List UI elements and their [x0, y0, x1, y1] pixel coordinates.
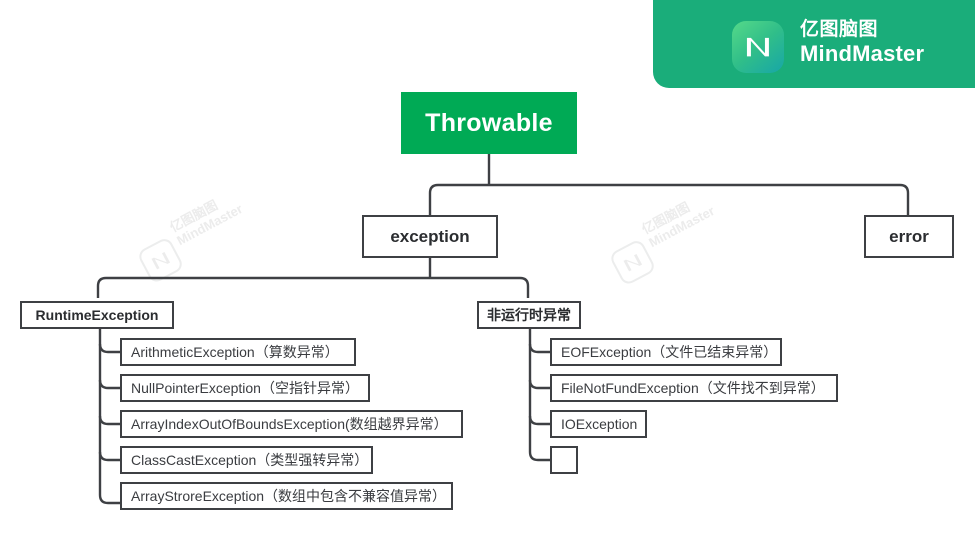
- node-array-index-out-of-bounds-exception[interactable]: ArrayIndexOutOfBoundsException(数组越界异常）: [120, 410, 463, 438]
- watermark-logo-icon: [608, 238, 657, 287]
- node-class-cast-exception-label: ClassCastException（类型强转异常）: [131, 450, 368, 470]
- node-throwable-label: Throwable: [425, 109, 553, 138]
- watermark: 亿图脑图 MindMaster: [120, 167, 264, 294]
- node-runtime-exception[interactable]: RuntimeException: [20, 301, 174, 329]
- node-exception[interactable]: exception: [362, 215, 498, 258]
- node-arithmetic-exception[interactable]: ArithmeticException（算数异常）: [120, 338, 356, 366]
- node-class-cast-exception[interactable]: ClassCastException（类型强转异常）: [120, 446, 373, 474]
- node-error-label: error: [889, 227, 929, 247]
- mindmap-canvas: 亿图脑图 MindMaster 亿图脑图 MindMaster 亿图脑图 Min…: [0, 0, 975, 533]
- node-array-index-out-of-bounds-exception-label: ArrayIndexOutOfBoundsException(数组越界异常）: [131, 414, 448, 434]
- brand-title-en: MindMaster: [800, 41, 924, 68]
- watermark-logo-icon: [136, 236, 185, 285]
- node-io-exception[interactable]: IOException: [550, 410, 647, 438]
- node-array-strore-exception-label: ArrayStroreException（数组中包含不兼容值异常）: [131, 486, 446, 506]
- node-file-not-fund-exception-label: FileNotFundException（文件找不到异常）: [561, 378, 825, 398]
- node-arithmetic-exception-label: ArithmeticException（算数异常）: [131, 342, 339, 362]
- node-array-strore-exception[interactable]: ArrayStroreException（数组中包含不兼容值异常）: [120, 482, 453, 510]
- watermark-text-cn: 亿图脑图: [640, 191, 711, 238]
- brand-text: 亿图脑图 MindMaster: [800, 18, 924, 68]
- node-runtime-exception-label: RuntimeException: [36, 307, 159, 323]
- node-eof-exception[interactable]: EOFException（文件已结束异常）: [550, 338, 782, 366]
- node-empty[interactable]: [550, 446, 578, 474]
- node-checked-exception[interactable]: 非运行时异常: [477, 301, 581, 329]
- watermark: 亿图脑图 MindMaster: [592, 169, 736, 296]
- watermark-text-cn: 亿图脑图: [168, 189, 239, 236]
- watermark-text: 亿图脑图 MindMaster: [168, 189, 246, 249]
- brand-title-cn: 亿图脑图: [800, 18, 924, 41]
- node-checked-exception-label: 非运行时异常: [487, 305, 571, 325]
- node-exception-label: exception: [390, 227, 469, 247]
- node-io-exception-label: IOException: [561, 416, 637, 432]
- node-file-not-fund-exception[interactable]: FileNotFundException（文件找不到异常）: [550, 374, 838, 402]
- node-error[interactable]: error: [864, 215, 954, 258]
- node-null-pointer-exception[interactable]: NullPointerException（空指针异常）: [120, 374, 370, 402]
- node-throwable[interactable]: Throwable: [401, 92, 577, 154]
- mindmaster-logo-icon: [732, 21, 784, 73]
- watermark-text: 亿图脑图 MindMaster: [640, 191, 718, 251]
- node-eof-exception-label: EOFException（文件已结束异常）: [561, 342, 777, 362]
- watermark-text-en: MindMaster: [647, 204, 718, 251]
- node-null-pointer-exception-label: NullPointerException（空指针异常）: [131, 378, 359, 398]
- watermark-text-en: MindMaster: [175, 202, 246, 249]
